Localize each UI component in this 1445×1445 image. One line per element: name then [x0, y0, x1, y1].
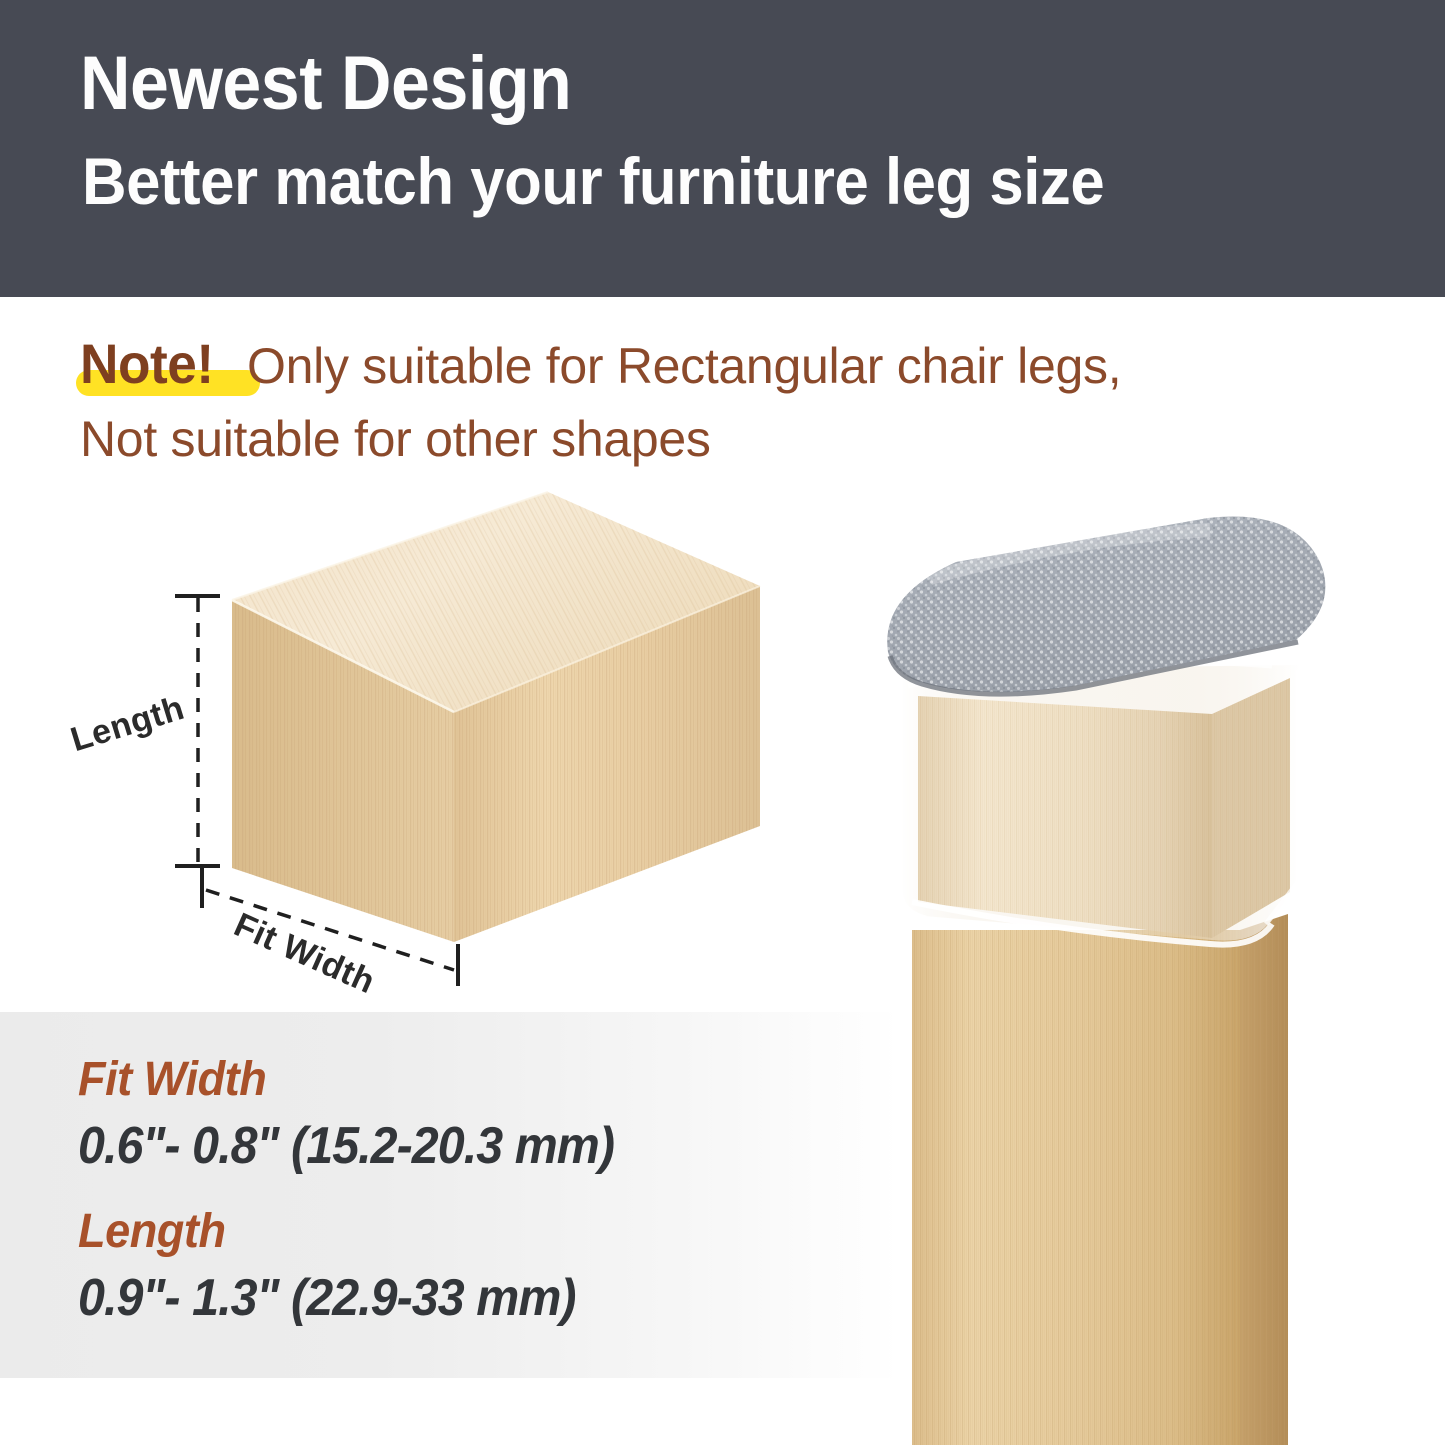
spec-row-fit-width: Fit Width 0.6"- 0.8" (15.2-20.3 mm): [78, 1056, 654, 1172]
spec-label-fit-width: Fit Width: [78, 1056, 620, 1104]
chair-leg-svg: [860, 500, 1360, 1445]
wood-block-diagram: Length Fit Width: [60, 470, 800, 1010]
spec-value-fit-width: 0.6"- 0.8" (15.2-20.3 mm): [78, 1120, 614, 1172]
header-banner: Newest Design Better match your furnitur…: [0, 0, 1445, 297]
spec-row-length: Length 0.9"- 1.3" (22.9-33 mm): [78, 1208, 613, 1324]
spec-label-length: Length: [78, 1208, 581, 1256]
note-line-1: Note! Only suitable for Rectangular chai…: [80, 336, 1380, 398]
note-block: Note! Only suitable for Rectangular chai…: [80, 336, 1380, 464]
page-title: Newest Design: [80, 46, 571, 122]
chair-leg-product-photo: [860, 500, 1360, 1445]
note-text-line-2: Not suitable for other shapes: [80, 414, 1380, 464]
wood-block-svg: [60, 470, 800, 1010]
leg-lower-grain: [912, 930, 1240, 1445]
spec-value-length: 0.9"- 1.3" (22.9-33 mm): [78, 1272, 576, 1324]
spec-panel: Fit Width 0.6"- 0.8" (15.2-20.3 mm) Leng…: [0, 1012, 900, 1378]
leg-upper-grain: [918, 696, 1212, 938]
product-infographic: Newest Design Better match your furnitur…: [0, 0, 1445, 1445]
note-badge: Note!: [80, 336, 214, 392]
note-text-line-1: Only suitable for Rectangular chair legs…: [247, 338, 1121, 394]
page-subtitle: Better match your furniture leg size: [82, 148, 1104, 214]
leg-lower-side-grain: [1240, 914, 1288, 1445]
